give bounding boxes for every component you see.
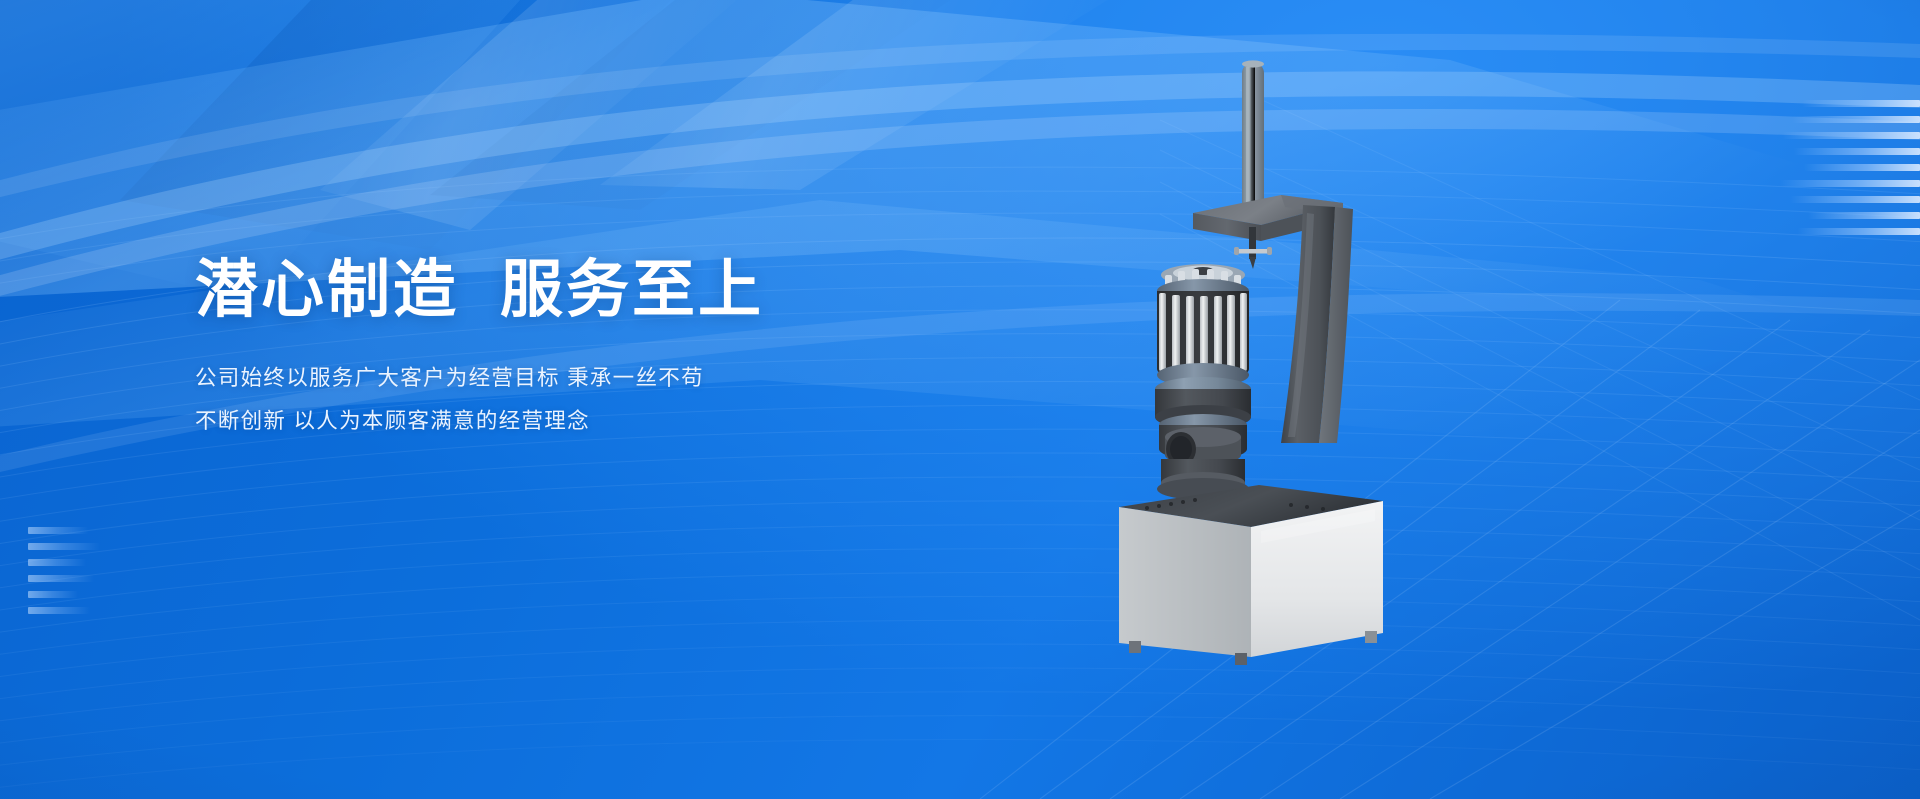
right-edge-bar-stack [1780,100,1920,235]
vertical-guide-shaft [1242,60,1264,223]
decor-bar [1782,132,1920,139]
page-title: 潜心制造 服务至上 [195,255,1025,326]
hero-subcopy: 公司始终以服务广大客户为经营目标 秉承一丝不苟 不断创新 以人为本顾客满意的经营… [195,368,1025,433]
bottom-left-bar-stack [28,527,100,614]
decor-bar [1792,116,1920,123]
decor-bar [1802,100,1920,107]
decor-bar [28,527,88,534]
decor-bar [28,543,100,550]
subcopy-line-1: 公司始终以服务广大客户为经营目标 秉承一丝不苟 [195,368,1025,390]
decor-bar [1794,148,1920,155]
decor-bar [28,607,90,614]
pedestal-housing [1157,414,1249,500]
decor-bar [1780,180,1920,187]
decor-bar [1798,228,1920,235]
decor-bar [28,559,86,566]
support-column [1281,205,1353,443]
subcopy-line-2: 不断创新 以人为本顾客满意的经营理念 [195,411,1025,433]
cabinet-base [1119,485,1383,665]
machine-illustration [1085,45,1425,665]
hero-copy-block: 潜心制造 服务至上 公司始终以服务广大客户为经营目标 秉承一丝不苟 不断创新 以… [195,255,1025,433]
slotted-rotor-cage [1157,264,1249,387]
decor-bar [28,575,94,582]
decor-bar [1790,196,1920,203]
decor-bar [28,591,78,598]
decor-bar [1804,164,1920,171]
decor-bar [1808,212,1920,219]
hero-banner: 潜心制造 服务至上 公司始终以服务广大客户为经营目标 秉承一丝不苟 不断创新 以… [0,0,1920,799]
